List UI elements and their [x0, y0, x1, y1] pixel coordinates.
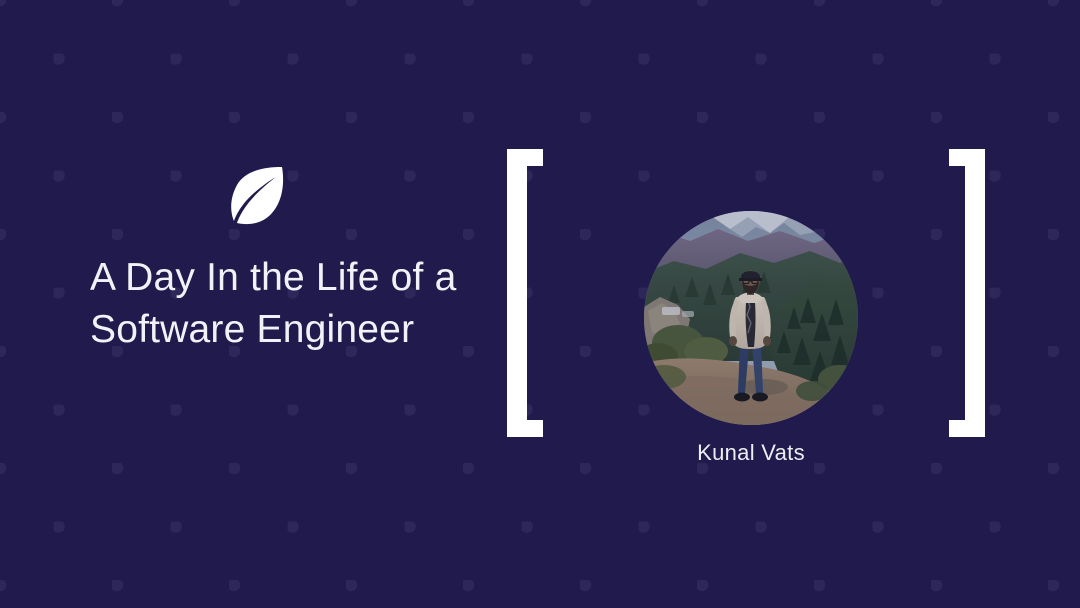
left-bracket-icon — [507, 149, 543, 437]
presentation-slide: A Day In the Life of a Software Engineer — [0, 0, 1080, 608]
right-bracket-icon — [949, 149, 985, 437]
speaker-photo — [644, 211, 858, 425]
speaker-name: Kunal Vats — [644, 440, 858, 466]
page-title: A Day In the Life of a Software Engineer — [90, 252, 490, 356]
leaf-icon — [228, 163, 290, 231]
